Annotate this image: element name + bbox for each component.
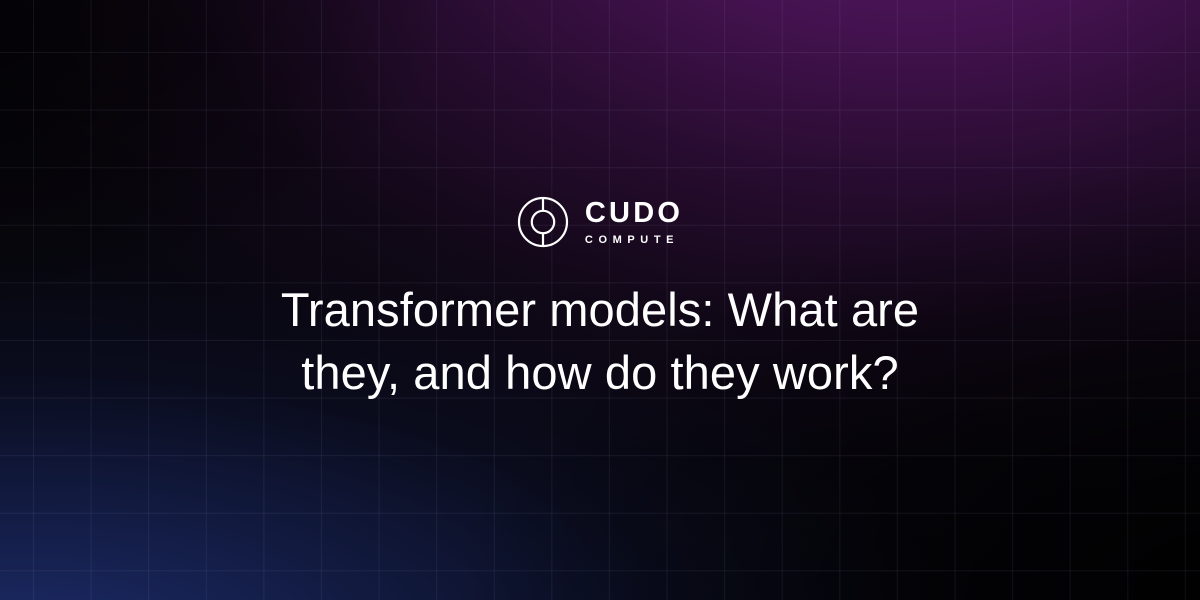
- page-title: Transformer models: What are they, and h…: [235, 278, 965, 404]
- cudo-wordmark: CUDO COMPUTE: [585, 199, 683, 246]
- hero-banner: CUDO COMPUTE Transformer models: What ar…: [0, 0, 1200, 600]
- cudo-circle-mark-icon: [517, 196, 569, 248]
- brand-product-name: COMPUTE: [585, 235, 679, 246]
- brand-name: CUDO: [585, 199, 683, 228]
- banner-content: CUDO COMPUTE Transformer models: What ar…: [0, 0, 1200, 600]
- cudo-compute-logo[interactable]: CUDO COMPUTE: [517, 196, 683, 248]
